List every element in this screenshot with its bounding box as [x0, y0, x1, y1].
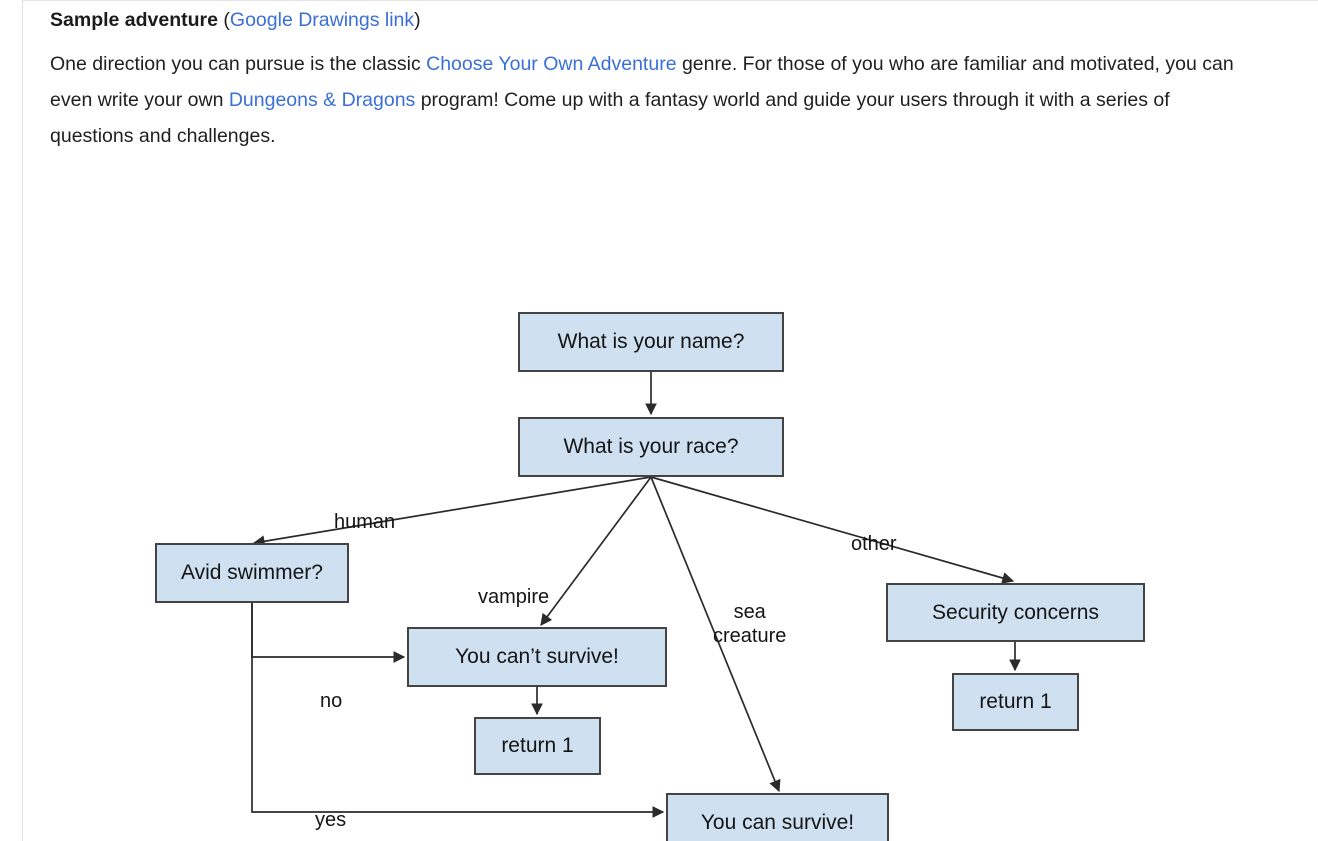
edge-label-human: human [334, 486, 395, 534]
node-what-is-your-race[interactable]: What is your race? [518, 417, 784, 477]
edge-label-text: sea creature [713, 601, 786, 647]
edge-race-to-swimmer [254, 477, 651, 543]
node-label: What is your name? [558, 330, 745, 354]
edge-label-text: yes [315, 809, 346, 831]
page-root: Sample adventure (Google Drawings link) … [0, 0, 1318, 841]
edge-label-text: human [334, 511, 395, 533]
node-label: You can’t survive! [455, 645, 619, 669]
node-you-can-survive[interactable]: You can survive! [666, 793, 889, 841]
node-avid-swimmer[interactable]: Avid swimmer? [155, 543, 349, 603]
edge-race-to-cant-survive [541, 477, 651, 625]
edge-label-vampire: vampire [478, 561, 549, 609]
node-you-cant-survive[interactable]: You can’t survive! [407, 627, 667, 687]
adventure-flowchart: What is your name? What is your race? Av… [0, 0, 1318, 841]
edge-label-other: other [851, 508, 897, 556]
node-return-1-left[interactable]: return 1 [474, 717, 601, 775]
node-label: What is your race? [563, 435, 738, 459]
node-return-1-right[interactable]: return 1 [952, 673, 1079, 731]
edge-label-text: other [851, 533, 897, 555]
node-label: Avid swimmer? [181, 561, 323, 585]
node-what-is-your-name[interactable]: What is your name? [518, 312, 784, 372]
node-label: Security concerns [932, 601, 1099, 625]
edge-label-text: vampire [478, 586, 549, 608]
edge-label-text: no [320, 690, 342, 712]
node-label: return 1 [979, 690, 1051, 714]
edge-swimmer-to-cant-survive [252, 603, 404, 657]
node-label: You can survive! [701, 811, 854, 835]
edge-race-to-security [651, 477, 1013, 581]
edge-label-sea-creature: sea creature [713, 576, 786, 648]
node-security-concerns[interactable]: Security concerns [886, 583, 1145, 642]
edge-label-yes: yes [315, 784, 346, 832]
edge-label-no: no [320, 665, 342, 713]
node-label: return 1 [501, 734, 573, 758]
